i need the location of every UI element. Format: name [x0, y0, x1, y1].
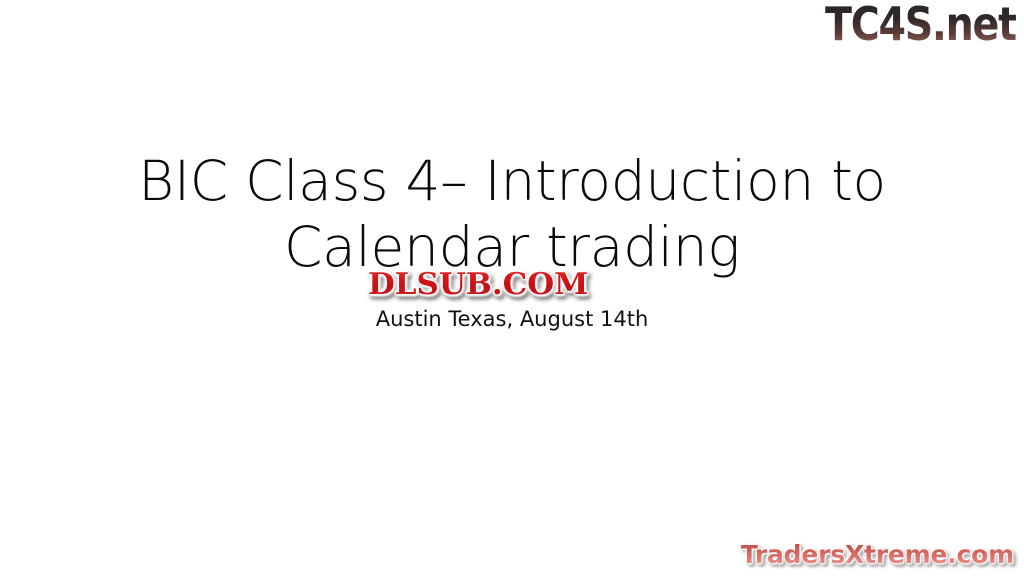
tradersxtreme-watermark: TradersXtreme.com: [741, 540, 1014, 570]
slide-title: BIC Class 4– Introduction to Calendar tr…: [100, 148, 924, 280]
dlsub-watermark: DLSUB.COM: [368, 268, 588, 302]
slide-subtitle: Austin Texas, August 14th: [100, 306, 924, 332]
title-block: BIC Class 4– Introduction to Calendar tr…: [100, 148, 924, 280]
subtitle-block: Austin Texas, August 14th: [100, 306, 924, 332]
presentation-slide: TC4S.net BIC Class 4– Introduction to Ca…: [0, 0, 1024, 576]
tc4s-watermark: TC4S.net: [825, 0, 1016, 50]
